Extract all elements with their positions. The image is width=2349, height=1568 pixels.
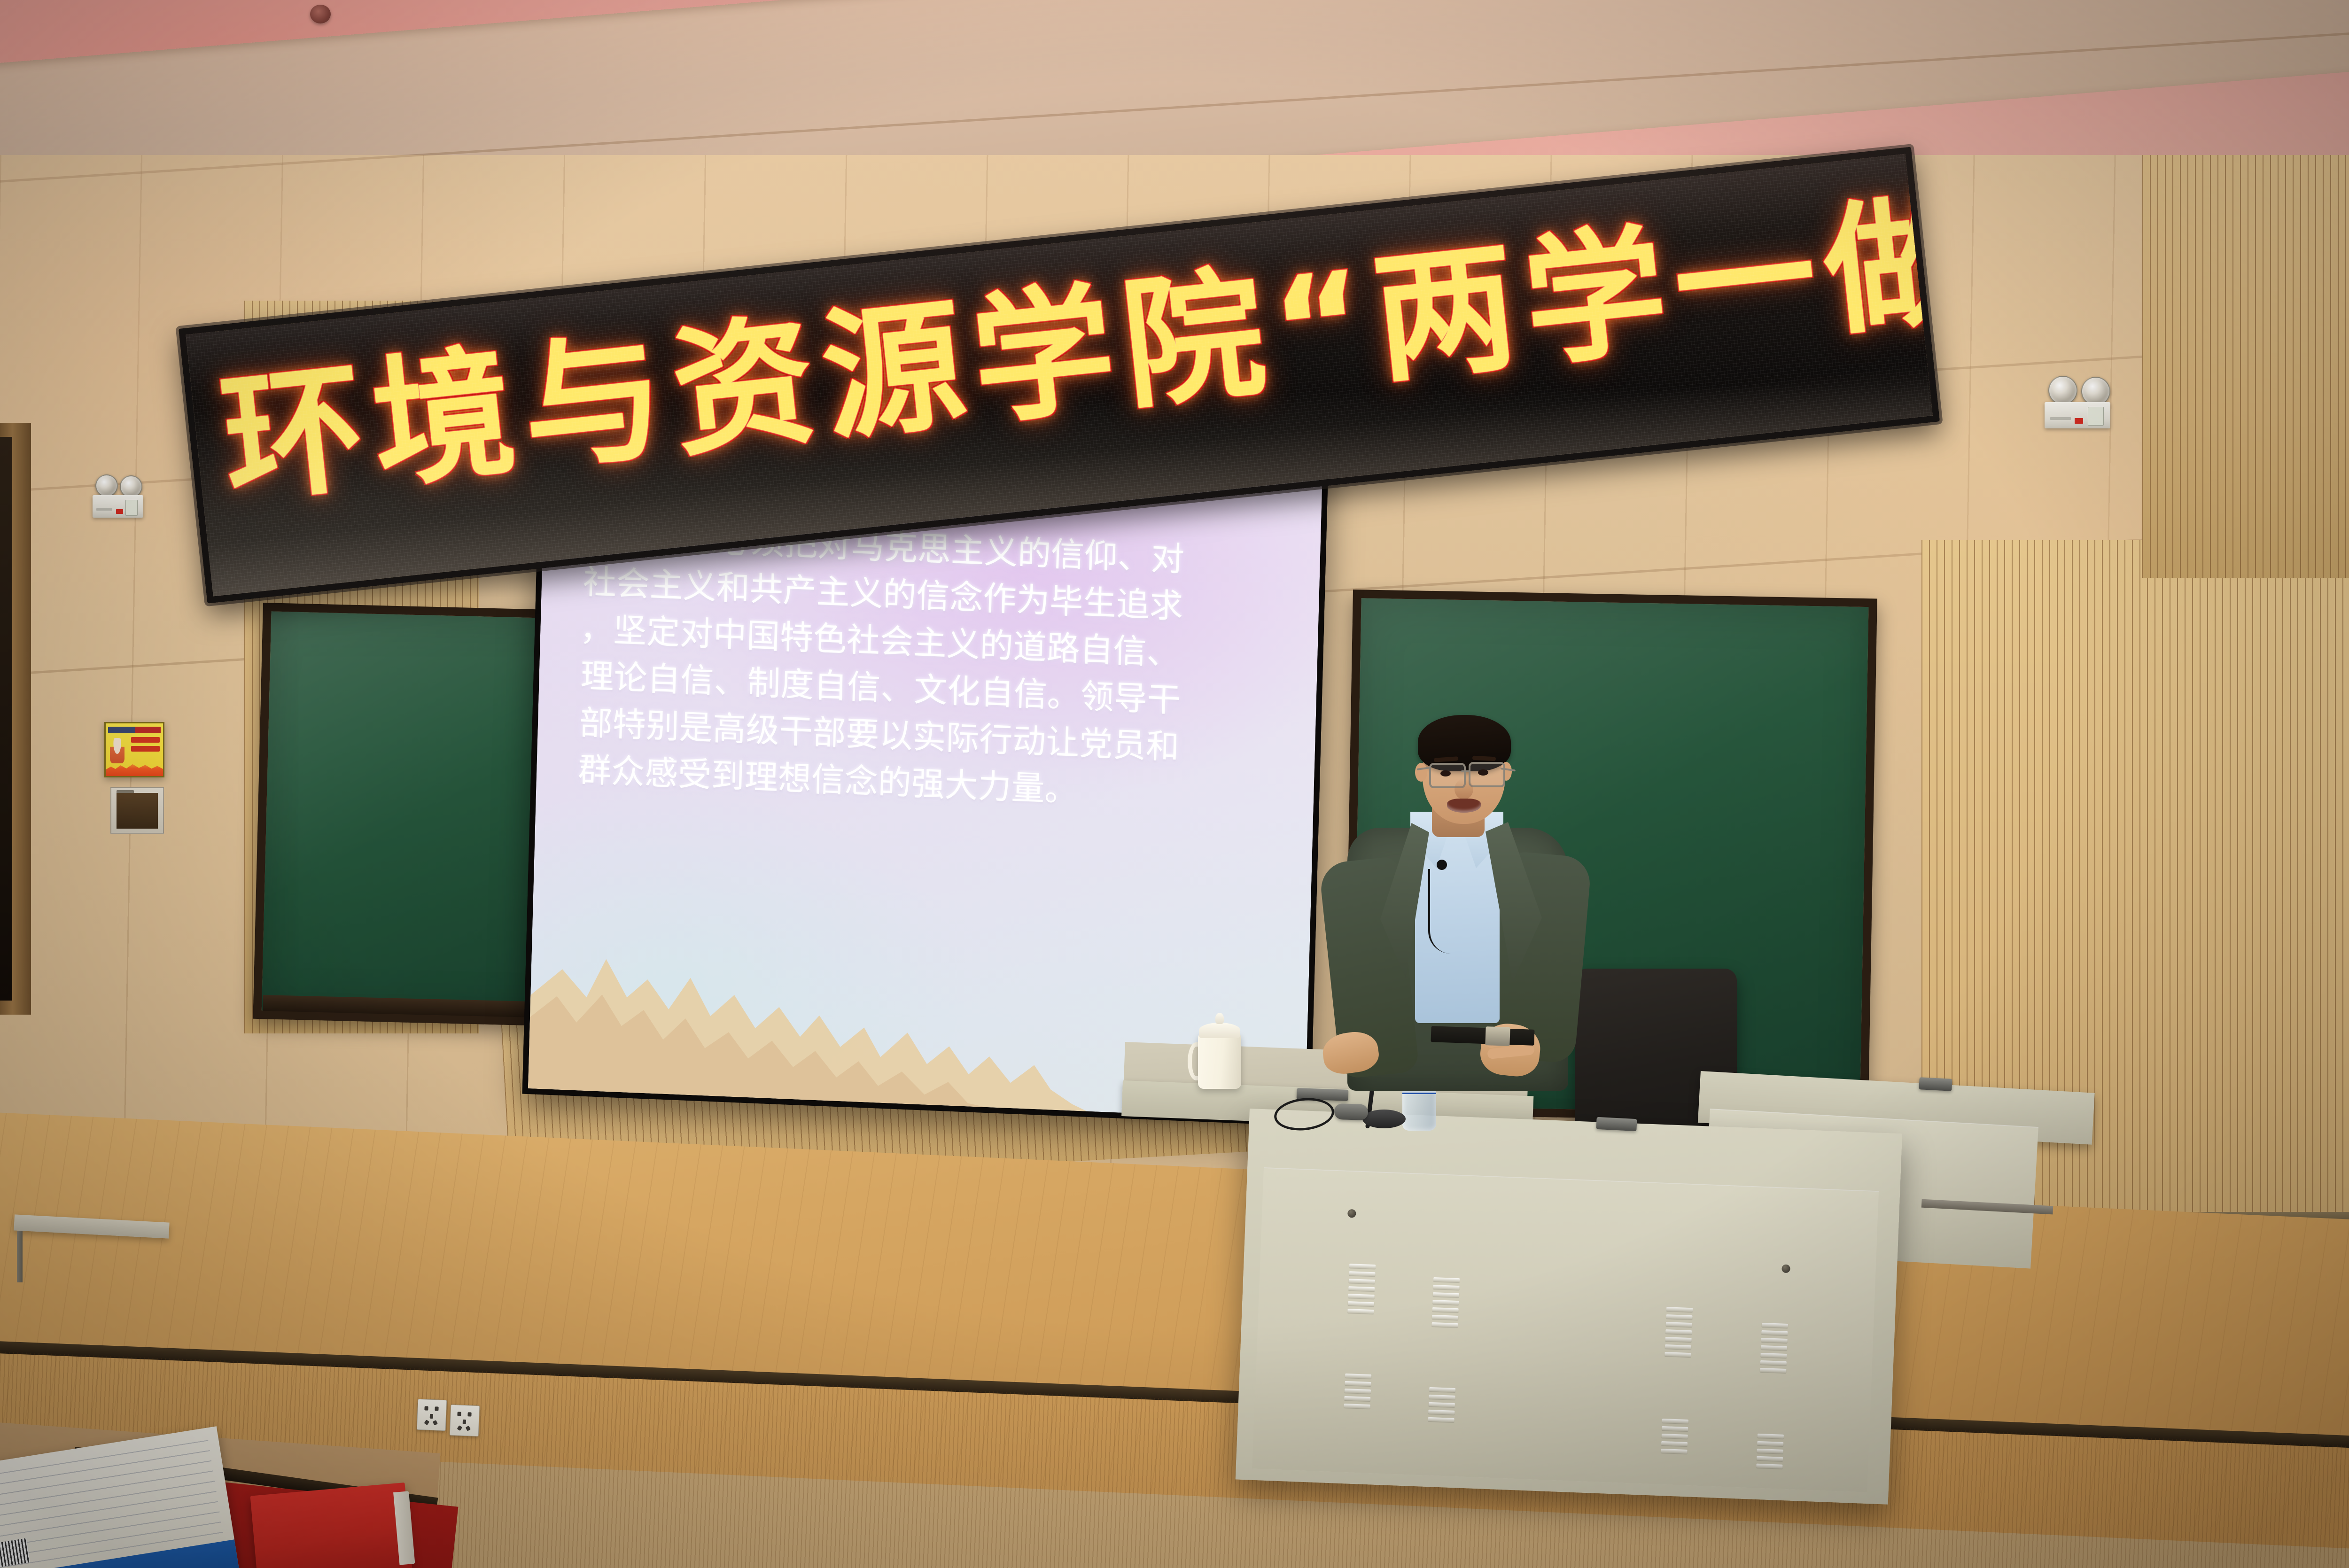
emergency-status-indicator: [2075, 418, 2083, 424]
podium-screw: [1347, 1209, 1356, 1218]
sprinkler-icon: [310, 5, 331, 23]
podium-screw: [1781, 1264, 1790, 1273]
podium-front-panel: [1252, 1167, 1879, 1492]
presenter-eye: [1478, 769, 1488, 776]
poster-header-accent: [135, 727, 161, 734]
presenter-nose: [1455, 779, 1473, 800]
emergency-label: [96, 508, 112, 511]
tea-mug[interactable]: [1198, 1018, 1241, 1089]
poster-figure-icon: [110, 738, 125, 763]
emergency-status-indicator: [116, 509, 123, 514]
emergency-test-panel: [2088, 407, 2104, 426]
presenter-mouth: [1447, 799, 1481, 813]
doorway-opening: [0, 437, 12, 1001]
power-outlet[interactable]: [417, 1399, 447, 1431]
podium-vent-slots: [1428, 1387, 1455, 1422]
presenter-belt-buckle: [1485, 1026, 1510, 1046]
presenter-ear: [1415, 763, 1427, 782]
mug-lid-knob: [1215, 1013, 1224, 1024]
poster-text-row: [131, 737, 160, 743]
poster-text-row: [131, 746, 160, 752]
red-notebook[interactable]: [250, 1483, 412, 1568]
eyeglasses-bridge: [1461, 770, 1470, 772]
podium-vent-slots: [1347, 1264, 1376, 1314]
lecture-hall-scene: 全党同志必须把对马克思主义的信仰、对 社会主义和共产主义的信念作为毕生追求 ，坚…: [0, 0, 2349, 1568]
mug-lid: [1199, 1023, 1240, 1038]
wall-shelf-bracket: [17, 1231, 23, 1282]
presenter: [1311, 705, 1696, 1127]
podium-vent-slots: [1661, 1419, 1688, 1454]
equipment-switch[interactable]: [1919, 1077, 1952, 1091]
emergency-lamp-head-icon: [2081, 377, 2110, 406]
right-emergency-light: [2044, 376, 2114, 430]
emergency-lamp-head-icon: [95, 474, 118, 497]
acoustic-slat-wall-upper-right: [2142, 155, 2349, 578]
emergency-light-body: [2045, 402, 2110, 428]
emergency-lamp-head-icon: [120, 475, 142, 498]
emergency-light-body: [93, 495, 143, 518]
podium-vent-slots: [1760, 1323, 1788, 1373]
emergency-test-panel: [125, 500, 138, 516]
left-emergency-light: [92, 474, 148, 520]
power-outlet[interactable]: [450, 1405, 480, 1436]
podium-vent-slots: [1756, 1434, 1784, 1469]
niche-interior: [117, 793, 158, 829]
podium-vent-slots: [1665, 1307, 1693, 1357]
wall-niche: [110, 787, 164, 834]
emergency-lamp-head-icon: [2048, 376, 2077, 405]
lapel-microphone-icon: [1437, 860, 1447, 870]
lapel-microphone-cord: [1428, 869, 1451, 954]
safety-poster: [104, 722, 164, 777]
led-banner: 环境与资源学院“两学一做”名家讲座: [179, 329, 1921, 605]
mug-body: [1198, 1034, 1241, 1089]
podium-vent-slots: [1431, 1277, 1460, 1327]
podium-vent-slots: [1344, 1374, 1371, 1409]
emergency-label: [2050, 417, 2071, 420]
presenter-eye: [1440, 770, 1451, 776]
eyeglasses-icon: [1469, 762, 1505, 787]
